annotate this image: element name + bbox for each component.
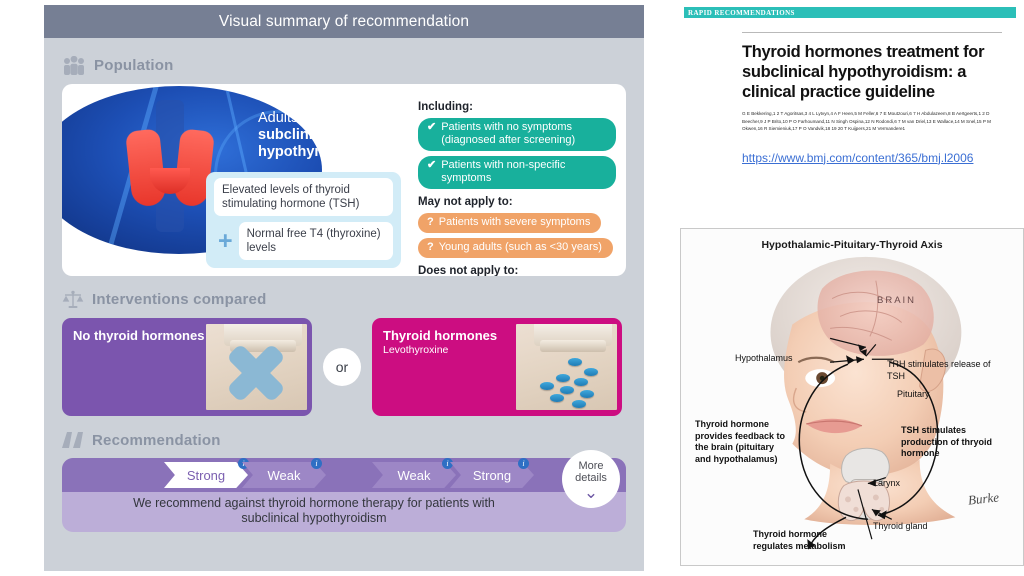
- pill-dot: [568, 358, 582, 366]
- visual-summary-infographic: Visual summary of recommendation Populat…: [44, 5, 644, 571]
- pill-dot: [560, 386, 574, 394]
- info-icon-strong-for[interactable]: i: [518, 458, 529, 469]
- or-divider: or: [323, 348, 361, 386]
- intervention-right-text: Thyroid hormones Levothyroxine: [372, 318, 505, 356]
- intervention-right-subtitle: Levothyroxine: [383, 344, 497, 356]
- label-larynx: Larynx: [873, 478, 900, 490]
- section-header-population: Population: [62, 56, 626, 75]
- x-mark-photo: [206, 324, 307, 410]
- check-icon: ✔: [427, 121, 436, 134]
- section-label-recommendation: Recommendation: [92, 432, 221, 449]
- criteria-pill-label: Patients with no symptoms (diagnosed aft…: [441, 121, 605, 147]
- infographic-title: Visual summary of recommendation: [219, 13, 469, 31]
- intervention-right-title: Thyroid hormones: [383, 328, 497, 343]
- hpt-illustration: [681, 229, 1023, 565]
- intervention-left-text: No thyroid hormones: [62, 318, 212, 343]
- people-icon: [62, 56, 86, 75]
- more-details-line-2: details: [575, 472, 607, 484]
- label-pituitary: Pituitary: [897, 389, 930, 401]
- label-thyroid-gland: Thyroid gland: [873, 521, 928, 533]
- quote-icon: [62, 432, 84, 449]
- criteria-pill-maynot-2: ? Young adults (such as <30 years): [418, 238, 613, 258]
- recommendation-strength-scale: Strong i Weak i Weak i Strong i: [62, 458, 626, 492]
- article-authors: G E Bekkering,1 2 T Agoritsas,3 4 L Lytv…: [742, 110, 1002, 133]
- scale-chevron-label: Weak: [398, 468, 431, 483]
- artist-signature: Burke: [967, 489, 1000, 508]
- callout-tsh-text: Elevated levels of thyroid stimulating h…: [214, 178, 393, 216]
- banner-label: RAPID RECOMMENDATIONS: [688, 9, 795, 17]
- intervention-card-thyroid-hormones[interactable]: Thyroid hormones Levothyroxine: [372, 318, 622, 416]
- criteria-pill-label: Patients with non-specific symptoms: [441, 159, 605, 185]
- scale-chevron-label: Strong: [473, 468, 511, 483]
- criteria-heading-including: Including:: [418, 101, 616, 113]
- question-icon: ?: [427, 241, 434, 254]
- infographic-body: Population Adults with subcli: [44, 38, 644, 532]
- criteria-pill-maynot-1: ? Patients with severe symptoms: [418, 213, 601, 233]
- caption-line-2: subclinical: [258, 127, 333, 143]
- intervention-card-no-hormones[interactable]: No thyroid hormones: [62, 318, 312, 416]
- population-criteria-list: Including: ✔ Patients with no symptoms (…: [418, 98, 616, 276]
- callout-t4-text: Normal free T4 (thyroxine) levels: [239, 222, 393, 260]
- label-hypothalamus: Hypothalamus: [735, 353, 793, 365]
- section-label-interventions: Interventions compared: [92, 291, 266, 308]
- criteria-heading-may-not-apply: May not apply to:: [418, 196, 616, 208]
- check-icon: ✔: [427, 159, 436, 172]
- caption-line-3: hypothyroidism: [258, 144, 367, 160]
- x-mark-icon: [228, 344, 286, 402]
- criteria-pill-including-1: ✔ Patients with no symptoms (diagnosed a…: [418, 118, 616, 151]
- info-icon-weak-against[interactable]: i: [311, 458, 322, 469]
- pill-dot: [574, 378, 588, 386]
- rapid-recommendations-banner: RAPID RECOMMENDATIONS: [684, 7, 1016, 18]
- question-icon: ?: [427, 216, 434, 229]
- infographic-header: Visual summary of recommendation: [44, 5, 644, 38]
- brain-label: BRAIN: [877, 295, 916, 306]
- section-header-interventions: Interventions compared: [62, 290, 626, 309]
- blue-pills-photo: [516, 324, 617, 410]
- pill-dot: [540, 382, 554, 390]
- more-details-line-1: More: [578, 460, 603, 472]
- criteria-pill-label: Young adults (such as <30 years): [439, 241, 602, 254]
- screenshot-root: Visual summary of recommendation Populat…: [0, 0, 1024, 576]
- label-tsh-stimulates: TSH stimulates production of thryoid hor…: [901, 425, 1005, 460]
- thyroid-gland-graphic: [128, 124, 212, 216]
- recommendation-statement: We recommend against thyroid hormone the…: [106, 496, 522, 526]
- population-definition-callout: Elevated levels of thyroid stimulating h…: [206, 172, 401, 268]
- plus-icon: +: [214, 231, 233, 251]
- callout-bottom-row: + Normal free T4 (thyroxine) levels: [214, 222, 393, 260]
- scale-chevron-label: Weak: [268, 468, 301, 483]
- criteria-heading-does-not-apply: Does not apply to:: [418, 265, 616, 276]
- chevron-down-icon: ⌄: [584, 486, 598, 499]
- section-header-recommendation: Recommendation: [62, 432, 626, 449]
- intervention-left-title: No thyroid hormones: [73, 328, 204, 343]
- scale-chevron-strong-against[interactable]: Strong: [164, 462, 248, 488]
- pill-dot: [584, 368, 598, 376]
- population-image-caption: Adults with subclinical hypothyroidism: [258, 110, 398, 161]
- article-inner: Thyroid hormones treatment for subclinic…: [680, 18, 1024, 167]
- pill-dot: [556, 374, 570, 382]
- scale-chevron-label: Strong: [187, 468, 225, 483]
- recommendation-box: Strong i Weak i Weak i Strong i: [62, 458, 626, 532]
- article-link[interactable]: https://www.bmj.com/content/365/bmj.l200…: [742, 151, 973, 165]
- pill-dot: [550, 394, 564, 402]
- more-details-button[interactable]: More details ⌄: [562, 450, 620, 508]
- hpt-axis-diagram: Hypothalamic-Pituitary-Thyroid Axis: [680, 228, 1024, 566]
- article-panel: RAPID RECOMMENDATIONS Thyroid hormones t…: [680, 5, 1024, 183]
- section-label-population: Population: [94, 57, 174, 74]
- criteria-pill-including-2: ✔ Patients with non-specific symptoms: [418, 156, 616, 189]
- scales-icon: [62, 290, 84, 309]
- article-title: Thyroid hormones treatment for subclinic…: [742, 42, 1002, 102]
- caption-line-1: Adults with: [258, 110, 328, 126]
- label-thyroid-feedback: Thyroid hormone provides feedback to the…: [695, 419, 791, 465]
- population-card: Adults with subclinical hypothyroidism E…: [62, 84, 626, 276]
- jar-lid-shape: [540, 340, 606, 352]
- interventions-row: No thyroid hormones or Thyroid hormones: [62, 318, 626, 416]
- label-thyroid-metabolism: Thyroid hormone regulates metabolism: [753, 529, 863, 552]
- article-divider: [742, 32, 1002, 33]
- pill-dot: [572, 400, 586, 408]
- label-trh-stimulates: TRH stimulates release of TSH: [887, 359, 995, 382]
- pill-dot: [580, 390, 594, 398]
- criteria-pill-label: Patients with severe symptoms: [439, 216, 591, 229]
